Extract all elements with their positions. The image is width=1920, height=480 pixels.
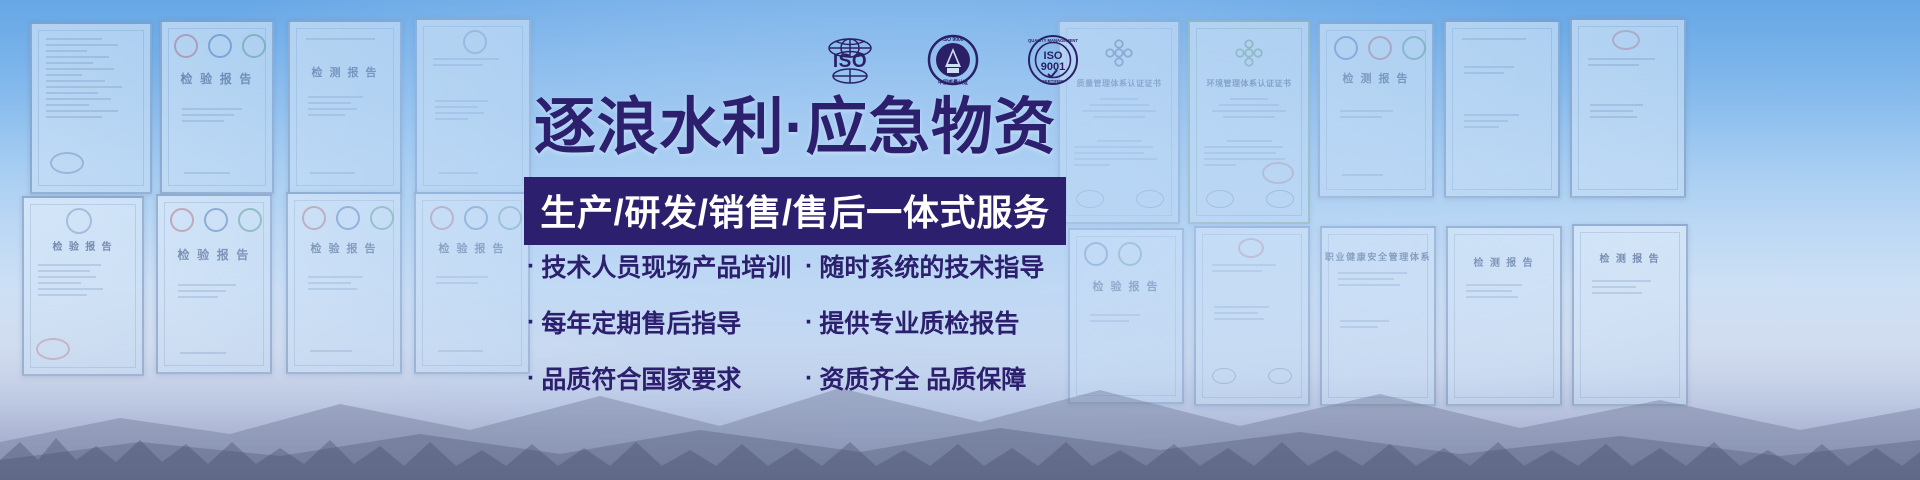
feature-item: · 每年定期售后指导 [527,304,805,340]
feature-item: · 资质齐全 品质保障 [805,360,1072,396]
feature-label: 资质齐全 品质保障 [819,360,1026,396]
feature-label: 品质符合国家要求 [541,360,741,396]
svg-text:QUALITY MANAGEMENT: QUALITY MANAGEMENT [1028,38,1078,43]
svg-text:ISO 9000: ISO 9000 [942,37,963,43]
certificate-card: 检 验 报 告 [160,20,274,194]
feature-item: · 随时系统的技术指导 [805,248,1072,284]
certificate-card [1444,20,1560,198]
bullet-dot-icon: · [527,254,535,279]
certificate-card: 检 测 报 告 [288,20,402,194]
feature-label: 每年定期售后指导 [541,304,741,340]
svg-text:CERTIFIED: CERTIFIED [1042,79,1064,84]
environment-emblem-icon [1234,38,1264,68]
svg-text:9001: 9001 [1041,61,1065,73]
bullet-dot-icon: · [527,310,535,335]
headline-block: 逐浪水利·应急物资 生产/研发/销售/售后一体式服务 [505,96,1085,245]
iso-9001-seal-logo: ISO 9001 QUALITY MANAGEMENT CERTIFIED [1027,34,1079,91]
iso-logo-row: ISO ISO 9000 中国质量认证 ISO [690,34,1210,91]
feature-item: · 品质符合国家要求 [527,360,805,396]
feature-label: 技术人员现场产品培训 [541,248,791,284]
feature-item: · 技术人员现场产品培训 [527,248,805,284]
feature-label: 提供专业质检报告 [819,304,1019,340]
bullet-dot-icon: · [805,254,813,279]
bullet-dot-icon: · [805,366,813,391]
feature-label: 随时系统的技术指导 [819,248,1044,284]
bullet-dot-icon: · [805,310,813,335]
certificate-card [1570,18,1686,198]
iso-globe-logo: ISO [821,36,879,89]
certificate-card [30,22,152,194]
banner-subtitle: 生产/研发/销售/售后一体式服务 [524,177,1066,245]
certificate-card: 检 测 报 告 [1318,22,1434,198]
china-quality-seal-logo: ISO 9000 中国质量认证 [927,34,979,91]
svg-text:中国质量认证: 中国质量认证 [938,79,968,86]
feature-item: · 提供专业质检报告 [805,304,1072,340]
bullet-dot-icon: · [527,366,535,391]
banner-headline: 逐浪水利·应急物资 [505,96,1085,159]
promo-banner: 检 验 报 告 检 测 报 告 [0,0,1920,480]
treeline-silhouette [0,420,1920,480]
feature-list: · 技术人员现场产品培训 · 随时系统的技术指导 · 每年定期售后指导 · 提供… [527,248,1072,396]
svg-text:ISO: ISO [833,51,867,72]
